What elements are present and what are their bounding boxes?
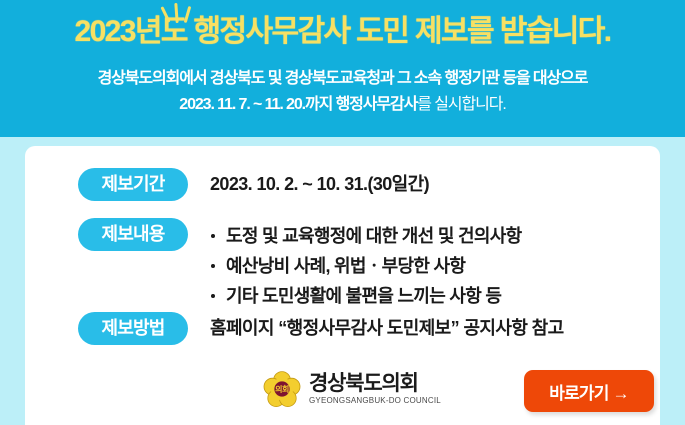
banner-subtitle-line-1: 경상북도의회에서 경상북도 및 경상북도교육청과 그 소속 행정기관 등을 대상… — [0, 68, 685, 90]
emblem-inner-label: 의회 — [263, 370, 301, 408]
council-name-en: GYEONGSANGBUK-DO COUNCIL — [309, 395, 441, 406]
info-row-content-body: 도정 및 교육행정에 대한 개선 및 건의사항 예산낭비 사례, 위법ㆍ부당한 … — [210, 218, 660, 311]
council-logo-text: 경상북도의회 GYEONGSANGBUK-DO COUNCIL — [309, 372, 441, 406]
banner-subtitle-period: 2023. 11. 7. ~ 11. 20.까지 행정사무감사 — [179, 96, 417, 113]
info-row-period-body: 2023. 10. 2. ~ 10. 31.(30일간) — [210, 168, 660, 197]
method-value: 홈페이지 “행정사무감사 도민제보” 공지사항 참고 — [210, 315, 660, 341]
info-row-content: 제보내용 도정 및 교육행정에 대한 개선 및 건의사항 예산낭비 사례, 위법… — [25, 218, 660, 311]
banner-title: 2023년도 행정사무감사 도민 제보를 받습니다. — [0, 12, 685, 52]
label-pill-content: 제보내용 — [78, 218, 188, 251]
period-value: 2023. 10. 2. ~ 10. 31.(30일간) — [210, 171, 660, 197]
list-item: 기타 도민생활에 불편을 느끼는 사항 등 — [210, 281, 660, 311]
goto-button[interactable]: 바로가기 → — [524, 370, 654, 412]
content-bullet-list: 도정 및 교육행정에 대한 개선 및 건의사항 예산낭비 사례, 위법ㆍ부당한 … — [210, 221, 660, 311]
banner-subtitle-suffix: 를 실시합니다. — [417, 96, 505, 113]
info-row-method-body: 홈페이지 “행정사무감사 도민제보” 공지사항 참고 — [210, 312, 660, 341]
banner-header: 2023년도 행정사무감사 도민 제보를 받습니다. 경상북도의회에서 경상북도… — [0, 0, 685, 137]
info-row-period: 제보기간 2023. 10. 2. ~ 10. 31.(30일간) — [25, 168, 660, 201]
label-pill-period: 제보기간 — [78, 168, 188, 201]
label-pill-method: 제보방법 — [78, 312, 188, 345]
list-item: 도정 및 교육행정에 대한 개선 및 건의사항 — [210, 221, 660, 251]
council-logo: 의회 경상북도의회 GYEONGSANGBUK-DO COUNCIL — [263, 370, 441, 408]
info-card: 제보기간 2023. 10. 2. ~ 10. 31.(30일간) 제보내용 도… — [25, 146, 660, 425]
card-footer: 의회 경상북도의회 GYEONGSANGBUK-DO COUNCIL 바로가기 … — [25, 368, 660, 425]
council-flower-emblem-icon: 의회 — [263, 370, 301, 408]
promo-banner: 2023년도 행정사무감사 도민 제보를 받습니다. 경상북도의회에서 경상북도… — [0, 0, 685, 425]
banner-subtitle-line-2: 2023. 11. 7. ~ 11. 20.까지 행정사무감사를 실시합니다. — [0, 94, 685, 116]
council-name-ko: 경상북도의회 — [309, 372, 441, 395]
list-item: 예산낭비 사례, 위법ㆍ부당한 사항 — [210, 251, 660, 281]
info-row-method: 제보방법 홈페이지 “행정사무감사 도민제보” 공지사항 참고 — [25, 312, 660, 345]
